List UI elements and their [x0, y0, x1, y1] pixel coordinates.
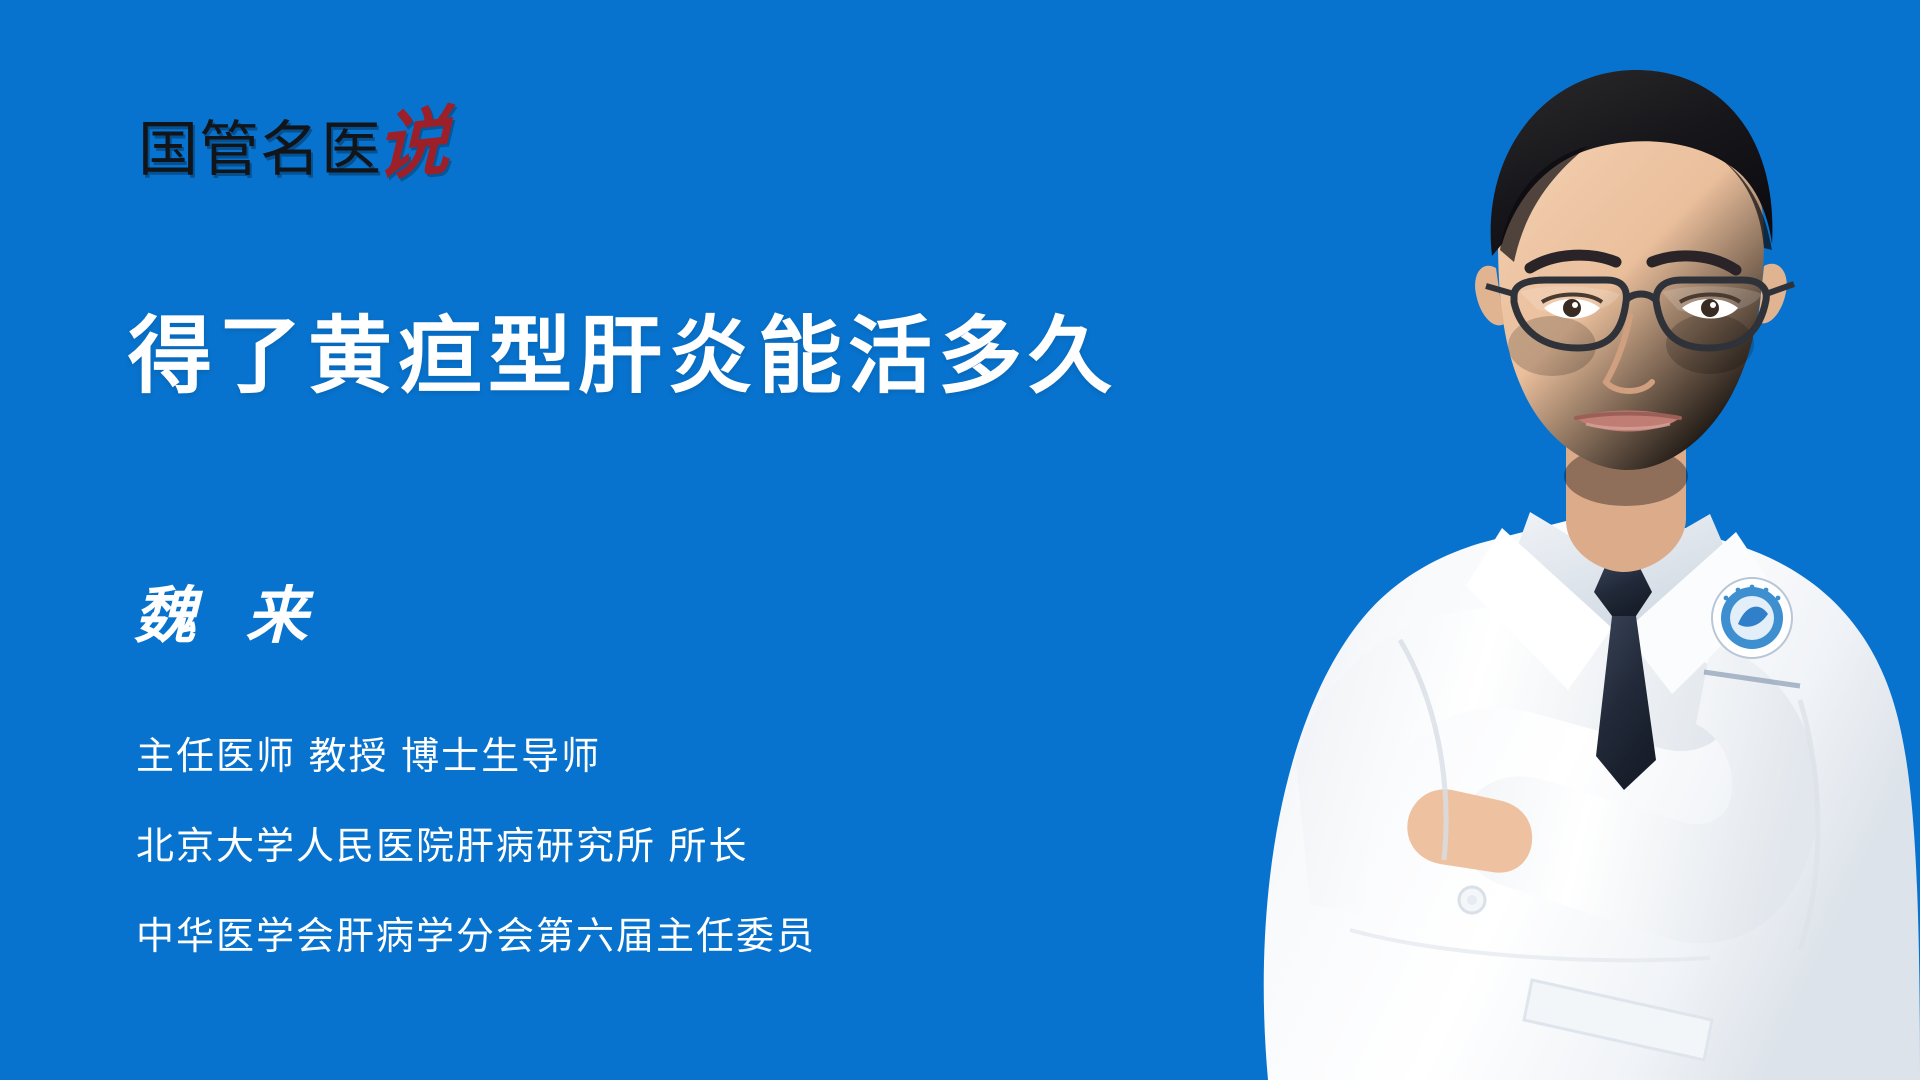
program-logo-main-text: 国管名医: [138, 120, 382, 180]
slide-canvas: 国管名医 说 得了黄疸型肝炎能活多久 魏 来 主任医师 教授 博士生导师 北京大…: [0, 0, 1920, 1080]
program-logo: 国管名医 说: [138, 96, 450, 180]
headline-title: 得了黄疸型肝炎能活多久: [128, 308, 1118, 404]
credential-line: 主任医师 教授 博士生导师: [136, 712, 816, 802]
program-logo-accent-text: 说: [376, 110, 450, 180]
doctor-name: 魏 来: [134, 580, 322, 652]
doctor-portrait: [1100, 0, 1920, 1080]
doctor-credentials: 主任医师 教授 博士生导师 北京大学人民医院肝病研究所 所长 中华医学会肝病学分…: [136, 712, 816, 982]
text-column: 国管名医 说 得了黄疸型肝炎能活多久 魏 来 主任医师 教授 博士生导师 北京大…: [0, 0, 1180, 1080]
credential-line: 中华医学会肝病学分会第六届主任委员: [136, 892, 816, 982]
credential-line: 北京大学人民医院肝病研究所 所长: [136, 802, 816, 892]
